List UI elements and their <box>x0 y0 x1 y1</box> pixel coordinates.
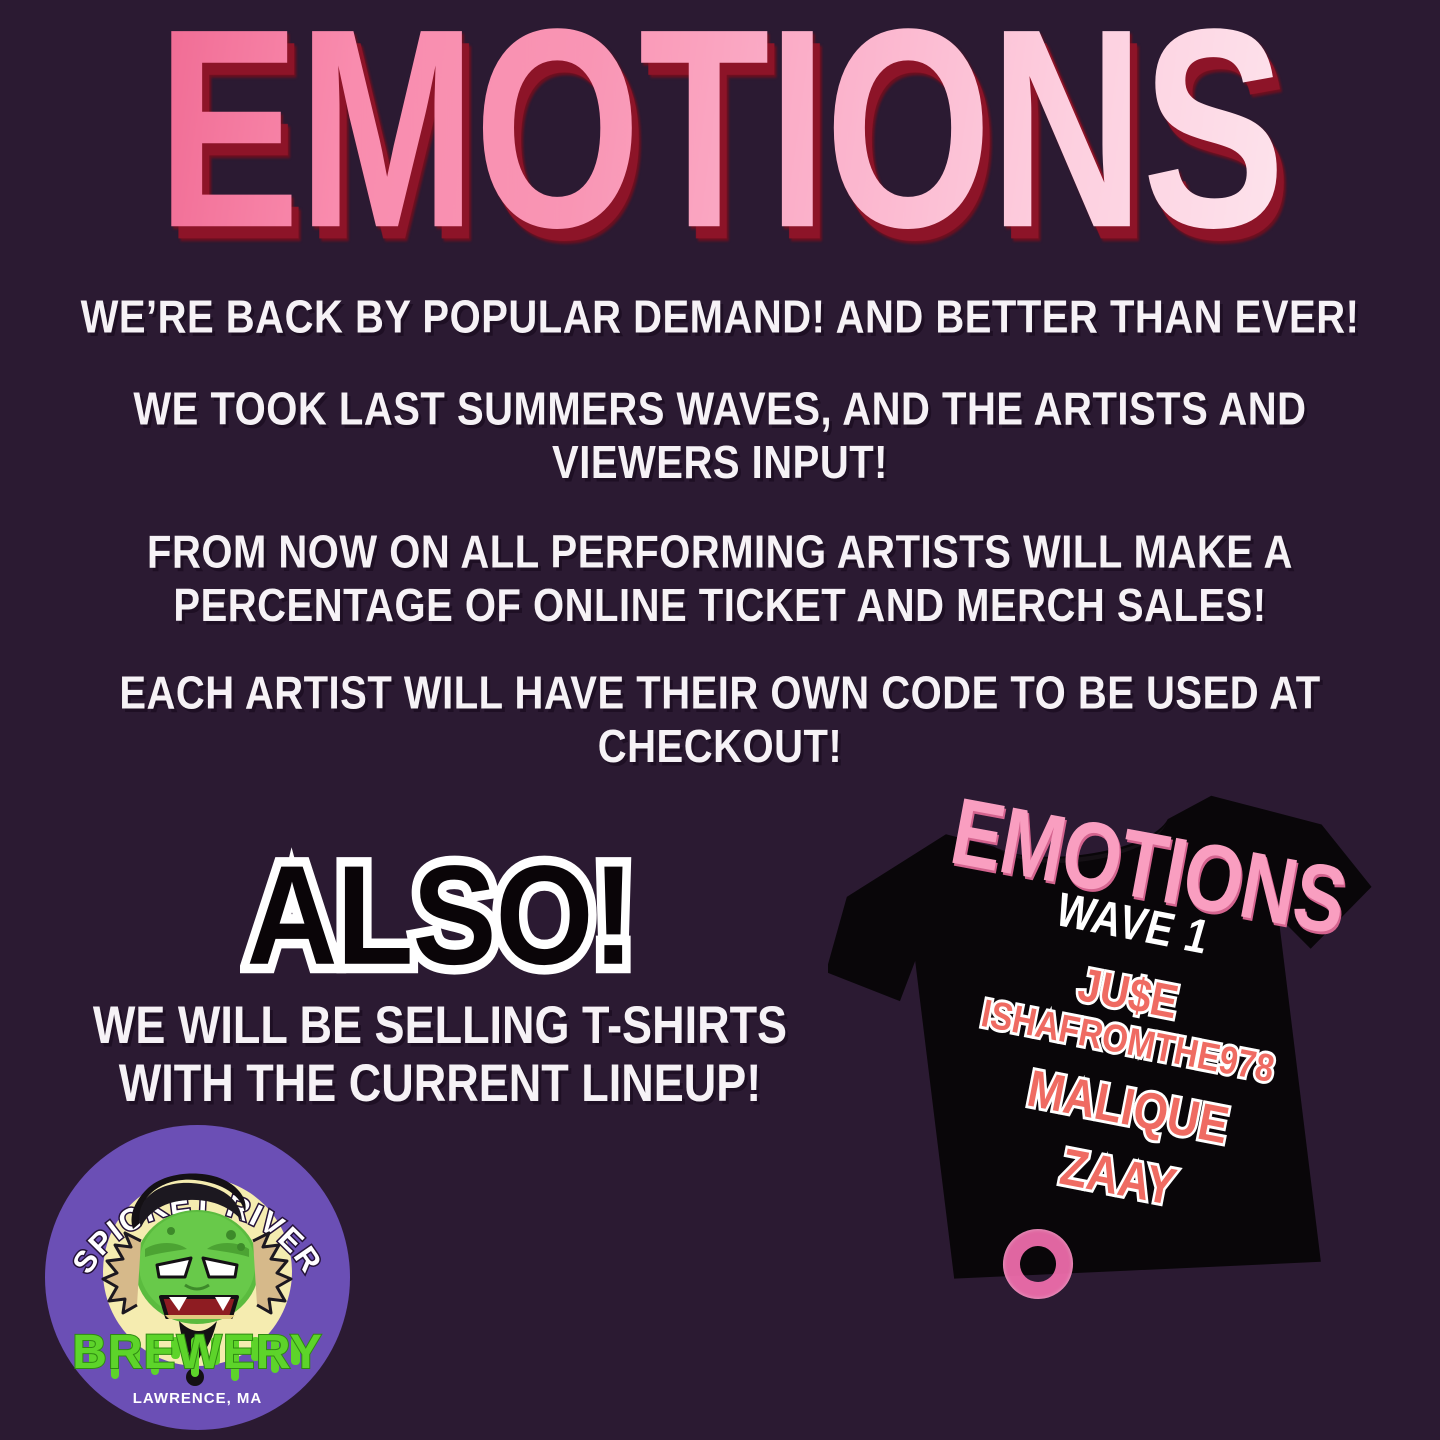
also-section: ALSO! WE WILL BE SELLING T-SHIRTS WITH T… <box>60 845 820 1094</box>
body-paragraph-3: FROM NOW ON ALL PERFORMING ARTISTS WILL … <box>50 527 1390 633</box>
body-paragraph-2: WE TOOK LAST SUMMERS WAVES, AND THE ARTI… <box>50 384 1390 490</box>
poster-title: EMOTIONS <box>0 34 1440 224</box>
logo-city-line: LAWRENCE, MA <box>45 1390 350 1407</box>
brewery-logo: SPICKET RIVER <box>45 1125 350 1430</box>
brewery-drip-shape <box>45 1125 350 1430</box>
poster-canvas: EMOTIONS WE’RE BACK BY POPULAR DEMAND! A… <box>0 0 1440 1440</box>
body-copy-block: WE’RE BACK BY POPULAR DEMAND! AND BETTER… <box>50 292 1390 759</box>
tshirt-shape <box>828 786 1428 1386</box>
logo-brewery-word: BREWERY <box>45 1325 350 1380</box>
body-paragraph-1: WE’RE BACK BY POPULAR DEMAND! AND BETTER… <box>50 292 1390 345</box>
page-title: EMOTIONS <box>157 0 1283 271</box>
also-subtext: WE WILL BE SELLING T-SHIRTS WITH THE CUR… <box>60 997 820 1112</box>
tshirt-mockup: EMOTIONS WAVE 1 JU$E ISHAFROMTHE978 MALI… <box>828 786 1428 1386</box>
body-paragraph-4: EACH ARTIST WILL HAVE THEIR OWN CODE TO … <box>50 668 1390 774</box>
also-headline: ALSO! <box>247 845 634 986</box>
